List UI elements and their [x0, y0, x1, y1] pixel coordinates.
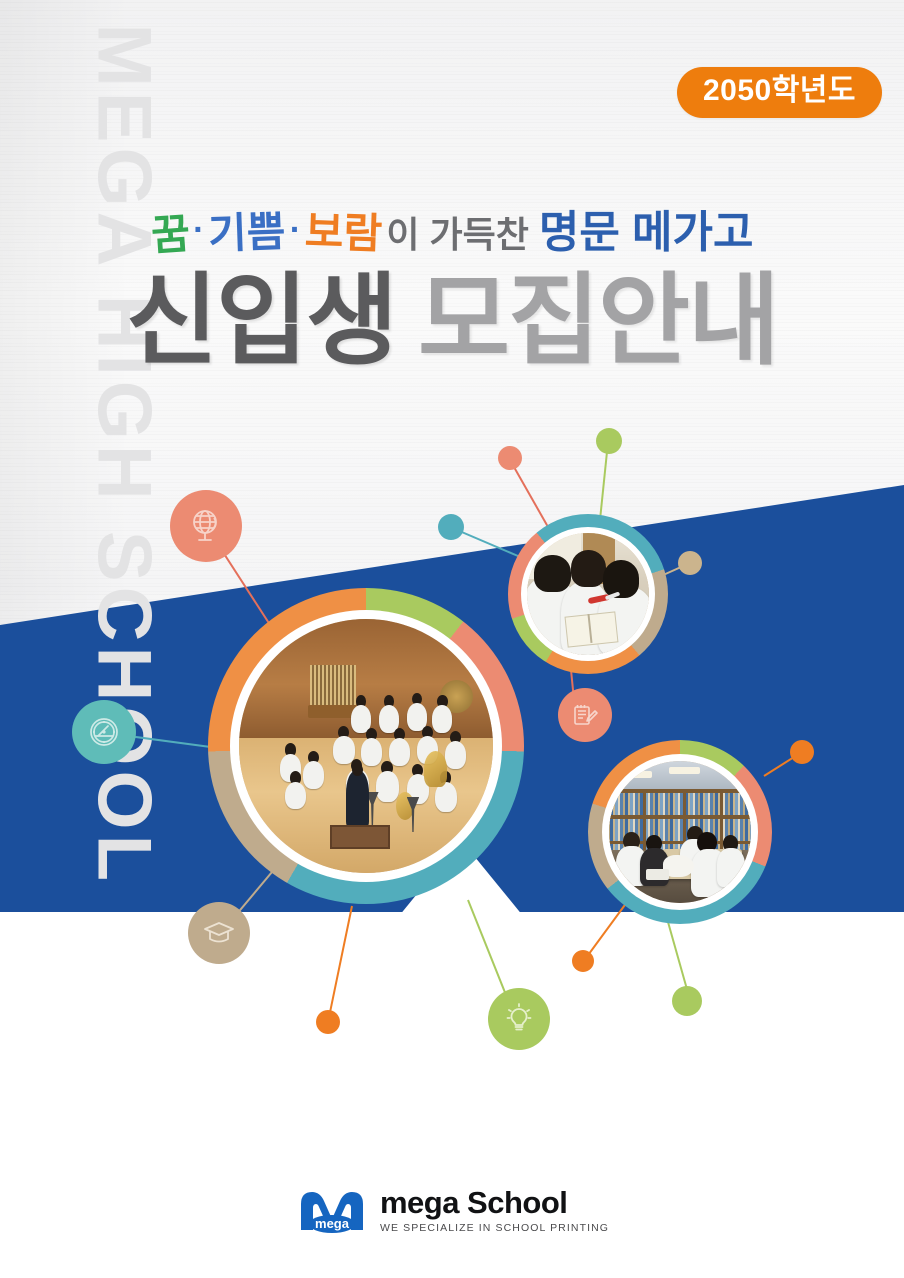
photo-band-concert	[239, 619, 493, 873]
footer-logo: mega mega School WE SPECIALIZE IN SCHOOL…	[0, 1186, 904, 1234]
photo-circle-reading	[508, 514, 668, 674]
logo-name: mega School	[380, 1187, 609, 1218]
scene-reading	[527, 533, 649, 655]
logo-tagline: WE SPECIALIZE IN SCHOOL PRINTING	[380, 1222, 609, 1234]
globe-icon	[170, 490, 242, 562]
mega-logo-mark-text: mega	[315, 1216, 350, 1231]
dot-green-bottom	[672, 986, 702, 1016]
graduation-cap-icon	[188, 902, 250, 964]
dot-orange-mid	[572, 950, 594, 972]
dot-orange-bottom	[316, 1010, 340, 1034]
photo-circle-band	[208, 588, 524, 904]
dot-coral-top	[498, 446, 522, 470]
dot-orange-right	[790, 740, 814, 764]
scene-band	[239, 619, 493, 873]
dot-green-top	[596, 428, 622, 454]
dot-teal-left	[438, 514, 464, 540]
photo-library-study	[609, 761, 751, 903]
lightbulb-icon	[488, 988, 550, 1050]
brochure-cover: MEGA HIGH SCHOOL 2050학년도 꿈·기쁨·보람이 가득찬명문 …	[0, 0, 904, 1278]
notepad-pencil-icon	[558, 688, 612, 742]
photo-circle-library	[588, 740, 772, 924]
photo-students-reading	[527, 533, 649, 655]
compass-icon	[72, 700, 136, 764]
scene-library	[609, 761, 751, 903]
photo-circle-cluster	[0, 0, 904, 1278]
dot-tan-right	[678, 551, 702, 575]
mega-logo-mark: mega	[295, 1186, 369, 1234]
